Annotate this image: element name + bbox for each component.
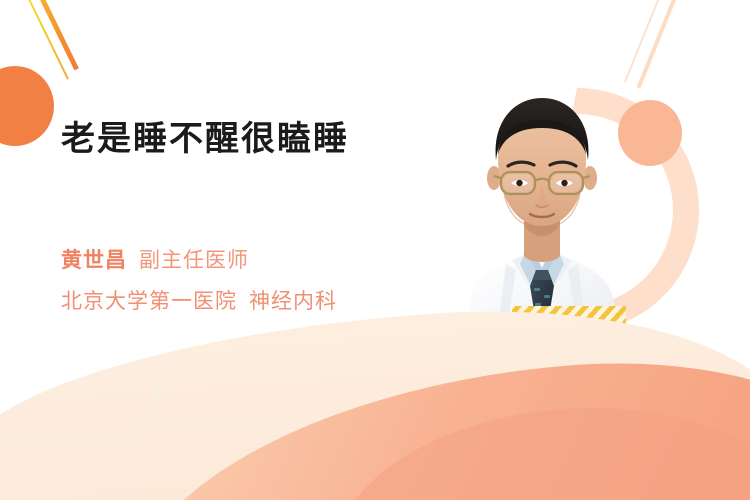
- salmon-wave-decor: [108, 339, 750, 500]
- orange-circle-decor: [0, 66, 54, 146]
- diagonal-stripe-bottom-left: [152, 357, 174, 405]
- diagonal-stripe-top-left-thick: [34, 0, 79, 70]
- diagonal-stripe-top-right-thick: [637, 0, 682, 89]
- promo-card: 老是睡不醒很瞌睡 黄世昌副主任医师 北京大学第一医院神经内科: [0, 0, 750, 500]
- pale-wave-decor: [0, 289, 750, 500]
- doctor-title: 副主任医师: [139, 249, 249, 272]
- doctor-name-row: 黄世昌副主任医师: [61, 247, 249, 274]
- diagonal-stripe-top-right-thin: [624, 0, 668, 82]
- doctor-hospital: 北京大学第一医院: [61, 290, 237, 313]
- salmon-wave-overlay-decor: [330, 408, 750, 500]
- doctor-affiliation-row: 北京大学第一医院神经内科: [61, 288, 337, 315]
- diagonal-stripe-top-left-thin: [25, 0, 69, 80]
- doctor-portrait: [464, 92, 620, 360]
- doctor-name: 黄世昌: [61, 249, 127, 272]
- page-title: 老是睡不醒很瞌睡: [61, 119, 349, 160]
- peach-circle-decor: [618, 100, 682, 166]
- doctor-department: 神经内科: [249, 290, 337, 313]
